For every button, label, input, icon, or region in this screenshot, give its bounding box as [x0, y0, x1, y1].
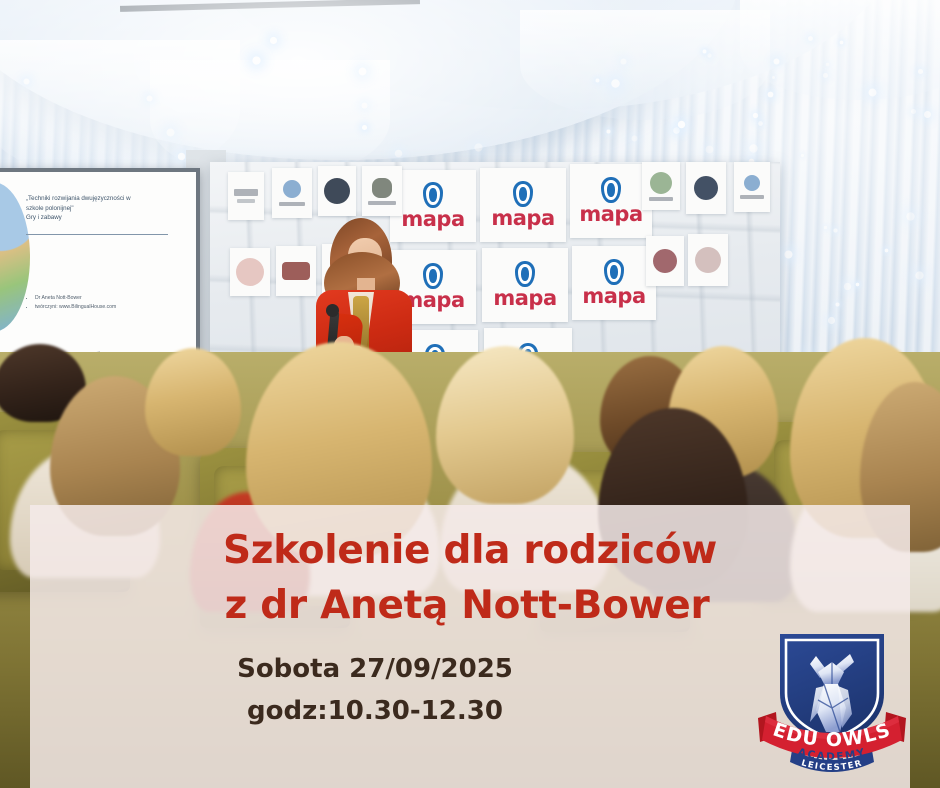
fairy-light — [840, 41, 844, 45]
fairy-light — [785, 251, 793, 259]
event-date: Sobota 27/09/2025 — [30, 648, 720, 690]
fairy-light — [924, 111, 931, 118]
projector-screen-frame: „Techniki rozwijania dwujęzyczności w sz… — [0, 168, 200, 364]
sponsor-logo-small — [646, 236, 684, 286]
mapa-wordmark: mapa — [579, 204, 642, 225]
slide-title-line1: „Techniki rozwijania dwujęzyczności w — [26, 194, 176, 204]
fairy-light — [606, 129, 610, 133]
sponsor-logo-small — [688, 234, 728, 286]
fairy-light — [911, 109, 916, 114]
slide-bullet-list: Dr Aneta Nott-Bower twórczyni: www.Bilin… — [28, 294, 195, 311]
fairy-light — [906, 212, 914, 220]
fairy-light — [772, 76, 775, 79]
slide-title: „Techniki rozwijania dwujęzyczności w sz… — [26, 194, 176, 223]
mapa-globe-icon — [513, 181, 533, 207]
sponsor-logo-small — [228, 172, 264, 220]
sponsor-logo-small — [318, 166, 356, 216]
fairy-light — [808, 36, 813, 41]
fairy-light — [178, 153, 185, 160]
slide-bullet: twórczyni: www.BilingualHouse.com — [35, 303, 195, 312]
fairy-light — [749, 144, 757, 152]
fairy-light — [833, 228, 837, 232]
fairy-light — [774, 59, 780, 65]
slide-bullet: Dr Aneta Nott-Bower — [35, 294, 195, 303]
attendee-head — [145, 348, 241, 456]
fairy-light — [474, 143, 482, 151]
microphone-head — [326, 304, 339, 317]
fairy-light — [706, 146, 714, 154]
fairy-light — [885, 249, 889, 253]
mapa-globe-icon — [601, 177, 621, 203]
mapa-wordmark: mapa — [491, 208, 554, 229]
fairy-light — [620, 58, 626, 64]
fairy-light — [824, 226, 827, 229]
edu-owls-academy-logo: LEICESTER EDU OWLS ACADEMY — [752, 612, 912, 774]
fairy-light — [915, 271, 923, 279]
event-poster: „Techniki rozwijania dwujęzyczności w sz… — [0, 0, 940, 788]
mapa-wordmark: mapa — [582, 286, 645, 307]
fairy-light — [596, 79, 600, 83]
fairy-light — [707, 53, 711, 57]
fairy-light — [362, 125, 367, 130]
fairy-light — [801, 154, 804, 157]
sponsor-logo-small — [734, 162, 770, 212]
fairy-light — [836, 303, 840, 307]
projector-screen: „Techniki rozwijania dwujęzyczności w sz… — [0, 172, 196, 360]
mapa-globe-icon — [423, 182, 443, 208]
fairy-light — [611, 79, 620, 88]
event-details-block: Sobota 27/09/2025 godz:10.30-12.30 — [30, 648, 720, 732]
fairy-light — [826, 63, 829, 66]
sponsor-logo-small — [686, 162, 726, 214]
event-time: godz:10.30-12.30 — [30, 690, 720, 732]
slide-divider — [26, 234, 168, 235]
sponsor-logo-small — [642, 162, 680, 210]
fairy-light — [147, 96, 153, 102]
fairy-light — [395, 150, 403, 158]
fairy-light — [703, 50, 707, 54]
slide-title-line3: Gry i zabawy — [26, 213, 176, 223]
attendee-head — [436, 346, 574, 504]
fairy-light — [359, 68, 367, 76]
fairy-light — [753, 113, 758, 118]
headline-line-1: Szkolenie dla rodziców — [30, 523, 910, 578]
fairy-light — [167, 129, 175, 137]
mapa-globe-icon — [515, 261, 535, 287]
sponsor-logo-small — [362, 166, 402, 216]
fairy-light — [24, 79, 30, 85]
sponsor-logo-mapa: mapa — [482, 248, 568, 322]
fairy-light — [758, 121, 763, 126]
fairy-light — [673, 127, 680, 134]
fairy-light — [252, 56, 260, 64]
fairy-light — [844, 283, 851, 290]
fairy-light — [918, 69, 923, 74]
mapa-globe-icon — [604, 259, 624, 285]
fairy-light — [856, 283, 860, 287]
fairy-light — [362, 103, 368, 109]
fairy-light — [828, 317, 835, 324]
mapa-wordmark: mapa — [493, 288, 556, 309]
sponsor-logo-small — [230, 248, 270, 296]
fairy-light — [869, 89, 877, 97]
sponsor-logo-mapa: mapa — [570, 164, 652, 238]
sponsor-logo-mapa: mapa — [572, 246, 656, 320]
sponsor-logo-small — [272, 168, 312, 218]
fairy-light — [270, 37, 277, 44]
fairy-light — [823, 73, 828, 78]
sponsor-logo-mapa: mapa — [480, 168, 566, 242]
slide-title-line2: szkole polonijnej" — [26, 204, 176, 214]
fairy-light — [768, 92, 774, 98]
fairy-light — [678, 121, 685, 128]
fairy-light — [632, 136, 638, 142]
